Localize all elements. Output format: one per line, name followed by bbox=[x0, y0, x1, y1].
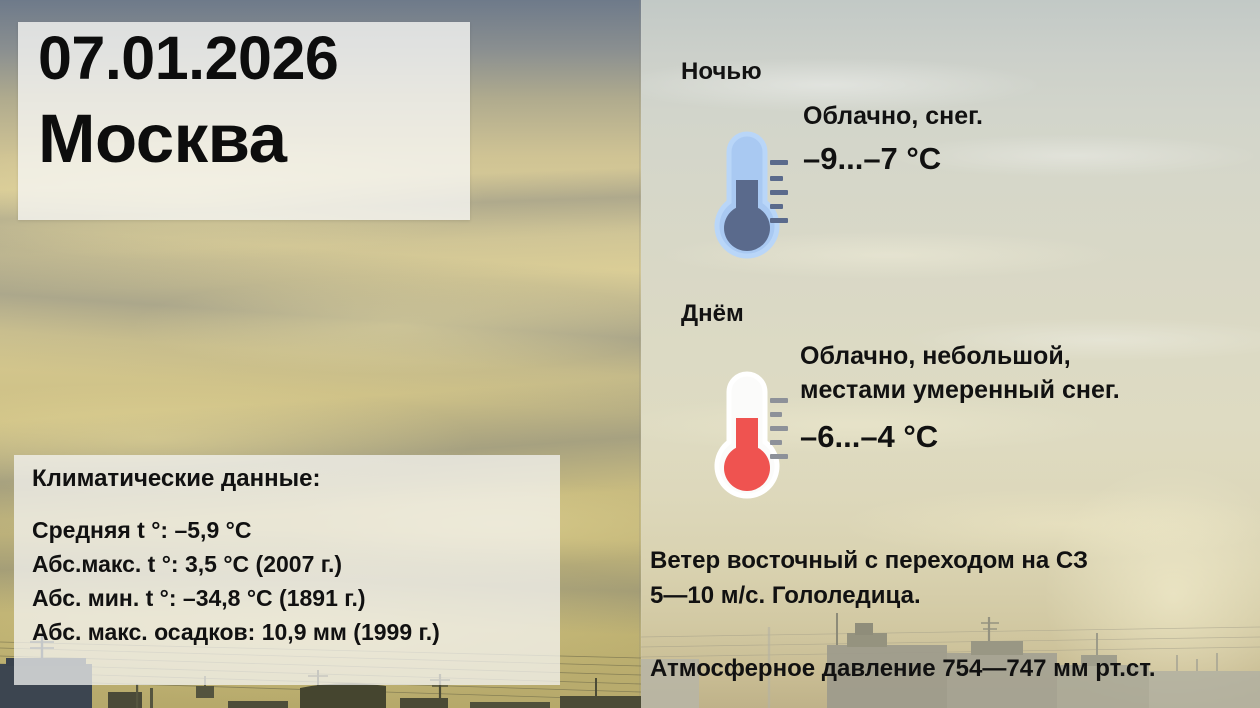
night-label: Ночью bbox=[681, 58, 762, 86]
city-name-text: Москва bbox=[38, 104, 287, 173]
day-temperature-text: –6...–4 °C bbox=[800, 418, 938, 455]
day-condition-text: Облачно, небольшой, местами умеренный сн… bbox=[800, 340, 1120, 408]
pressure-info: Атмосферное давление 754—747 мм рт.ст. bbox=[650, 655, 1156, 683]
thermometer-cold-icon bbox=[703, 118, 795, 266]
climate-row-mean-temp: Средняя t °: –5,9 °C bbox=[32, 517, 440, 544]
night-condition-text: Облачно, снег. bbox=[803, 100, 983, 134]
wind-info: Ветер восточный с переходом на СЗ 5—10 м… bbox=[650, 544, 1088, 614]
night-temperature-text: –9...–7 °C bbox=[803, 140, 941, 177]
thermometer-warm-icon bbox=[703, 358, 795, 506]
day-label: Днём bbox=[681, 300, 744, 328]
climate-row-abs-max-temp: Абс.макс. t °: 3,5 °C (2007 г.) bbox=[32, 551, 440, 578]
climate-data-title: Климатические данные: bbox=[32, 465, 320, 493]
climate-data-rows: Средняя t °: –5,9 °C Абс.макс. t °: 3,5 … bbox=[32, 517, 440, 647]
weather-infographic: 07.01.2026 Москва Климатические данные: … bbox=[0, 0, 1260, 708]
date-text: 07.01.2026 bbox=[38, 28, 338, 89]
date-city-panel: 07.01.2026 Москва bbox=[18, 22, 470, 220]
wind-line-2: 5—10 м/с. Гололедица. bbox=[650, 579, 1088, 614]
day-condition-line-1: Облачно, небольшой, bbox=[800, 340, 1120, 374]
wind-line-1: Ветер восточный с переходом на СЗ bbox=[650, 544, 1088, 579]
climate-row-max-precip: Абс. макс. осадков: 10,9 мм (1999 г.) bbox=[32, 619, 440, 646]
day-condition-line-2: местами умеренный снег. bbox=[800, 374, 1120, 408]
climate-data-panel: Климатические данные: Средняя t °: –5,9 … bbox=[14, 455, 560, 685]
climate-row-abs-min-temp: Абс. мин. t °: –34,8 °C (1891 г.) bbox=[32, 585, 440, 612]
